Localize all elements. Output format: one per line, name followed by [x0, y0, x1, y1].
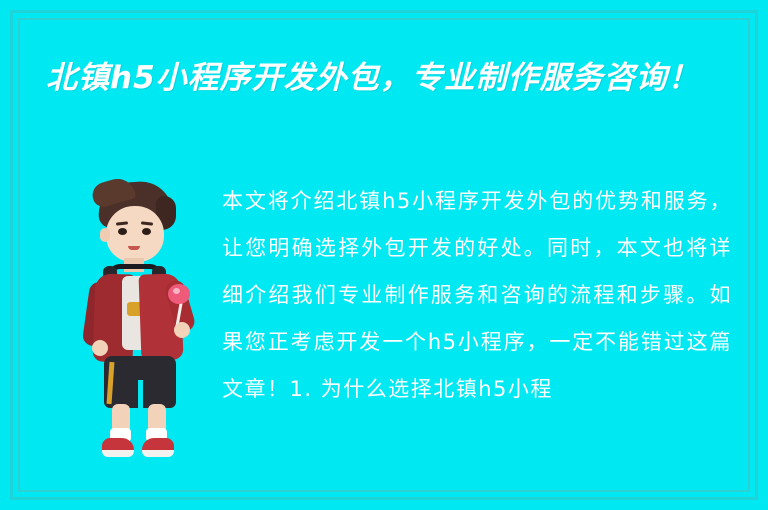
poster-body-text: 本文将介绍北镇h5小程序开发外包的优势和服务，让您明确选择外包开发的好处。同时，…	[222, 178, 732, 413]
shoe-sole-left	[102, 450, 134, 457]
shoe-sole-right	[142, 450, 174, 457]
hand-right	[174, 322, 190, 338]
poster-title: 北镇h5小程序开发外包，专业制作服务咨询！	[46, 56, 736, 100]
eye-right	[142, 228, 151, 235]
poster-canvas: 北镇h5小程序开发外包，专业制作服务咨询！	[0, 0, 768, 510]
shorts-gap	[138, 380, 143, 408]
face-shape	[106, 206, 164, 262]
ear-shape	[100, 228, 110, 242]
hand-left	[92, 340, 108, 356]
lollipop-icon	[168, 284, 190, 304]
character-illustration	[70, 180, 210, 468]
eye-left	[118, 228, 127, 235]
